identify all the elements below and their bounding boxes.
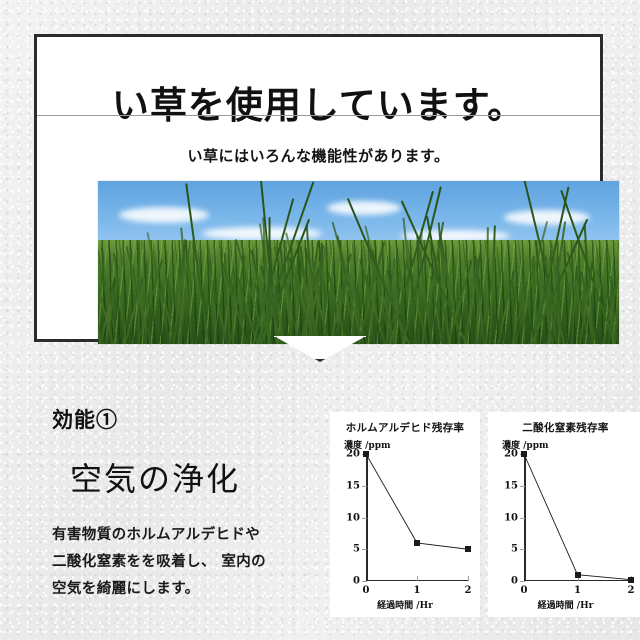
page-subtitle: い草にはいろんな機能性があります。 [37,134,600,176]
chart-y-tick-label: 20 [504,449,518,460]
chart-y-tick-label: 10 [346,512,360,523]
chart-y-tick-label: 15 [504,480,518,491]
chart-data-point [628,577,634,583]
igusa-field-photo [98,181,619,344]
benefit-title: 空気の浄化 [70,454,284,500]
chart-x-tick [468,576,469,581]
chart-data-point [363,451,369,457]
chart-data-point [521,451,527,457]
chart-y-tick-label: 5 [511,544,518,555]
chart-y-tick-label: 0 [511,576,518,587]
chart-y-tick-label: 15 [346,480,360,491]
chart-x-tick-label: 2 [465,585,472,596]
benefit-section: 効能① 空気の浄化 有害物質のホルムアルデヒドや 二酸化窒素をを吸着し、 室内の… [52,404,284,602]
chart-series-svg [524,454,631,581]
chart-y-tick-label: 20 [346,449,360,460]
chart-series-line [366,454,468,549]
benefit-kicker: 効能① [52,404,284,434]
chart-y-tick [520,581,525,582]
chart-plot-area: 05101520012 [524,454,631,581]
chart-x-tick-label: 1 [414,585,421,596]
chart-x-tick-label: 0 [363,585,370,596]
chart-data-point [575,572,581,578]
chart-nitrogen-dioxide: 二酸化窒素残存率 濃度 /ppm 05101520012 経過時間 /Hr [488,412,640,617]
chart-title: ホルムアルデヒド残存率 [330,412,480,435]
chart-y-tick-label: 10 [504,512,518,523]
chart-series-svg [366,454,468,581]
cloud-shape [327,201,401,215]
chart-x-tick-label: 0 [521,585,528,596]
chart-x-axis-label: 経過時間 /Hr [330,598,480,611]
benefit-body-line: 空気を綺麗にします。 [52,576,284,603]
chart-data-point [465,546,471,552]
hero-panel: い草を使用しています。 い草にはいろんな機能性があります。 [34,34,603,342]
chart-series-line [524,454,631,580]
chart-x-tick-label: 2 [628,585,635,596]
benefit-body-line: 二酸化窒素をを吸着し、 室内の [52,549,284,576]
chart-data-point [414,540,420,546]
chart-y-tick [362,581,367,582]
chart-plot-area: 05101520012 [366,454,468,581]
page-title: い草を使用しています。 [37,64,600,140]
chart-y-tick-label: 0 [353,576,360,587]
title-divider [37,115,600,116]
chart-title: 二酸化窒素残存率 [488,412,640,435]
cloud-shape [119,207,209,223]
benefit-body: 有害物質のホルムアルデヒドや 二酸化窒素をを吸着し、 室内の 空気を綺麗にします… [52,522,284,602]
chart-x-tick-label: 1 [574,585,581,596]
chart-formaldehyde: ホルムアルデヒド残存率 濃度 /ppm 05101520012 経過時間 /Hr [330,412,480,617]
chart-x-axis-label: 経過時間 /Hr [488,598,640,611]
chart-y-tick-label: 5 [353,544,360,555]
benefit-body-line: 有害物質のホルムアルデヒドや [52,522,284,549]
